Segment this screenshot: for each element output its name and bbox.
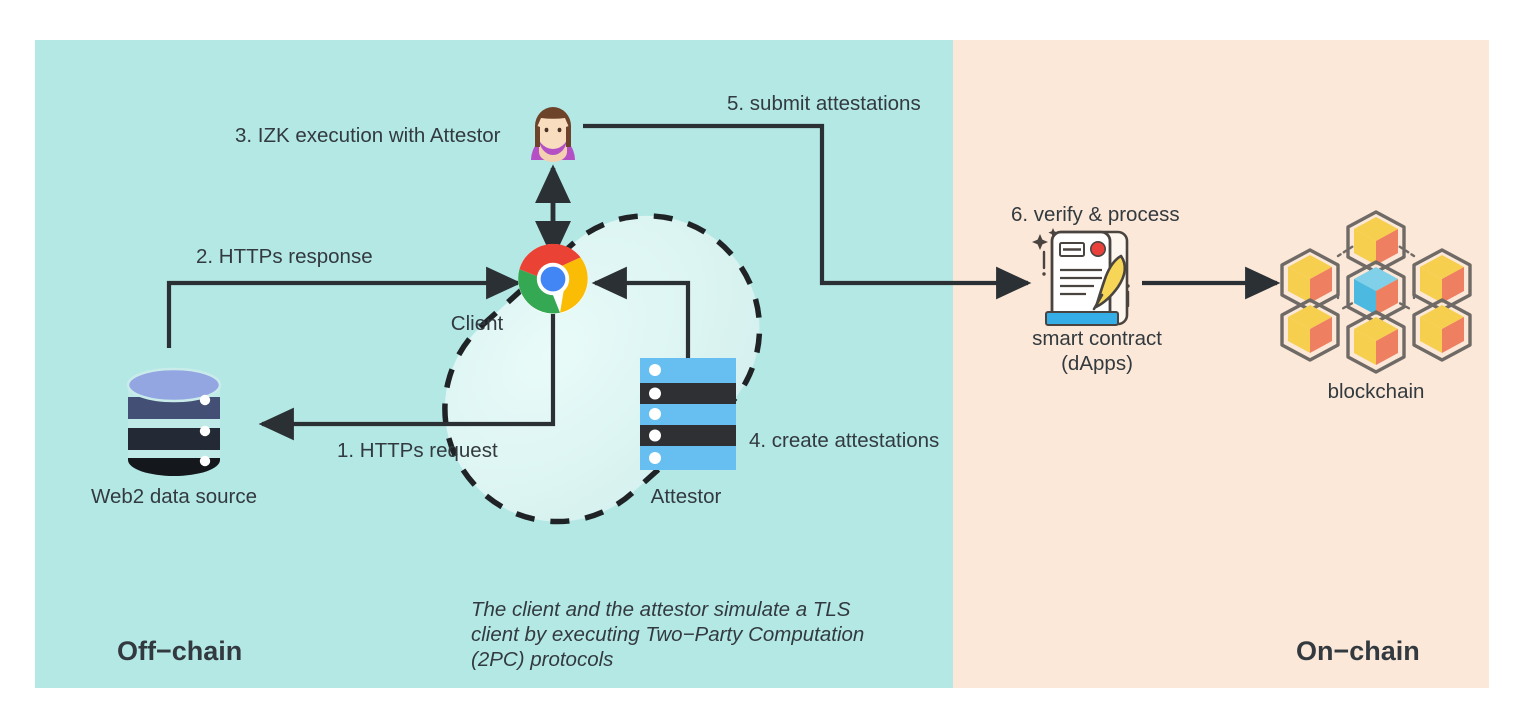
step-label-3: 3. IZK execution with Attestor: [235, 124, 501, 147]
caption-line-2: client by executing Two−Party Computatio…: [471, 623, 864, 646]
smart-contract-sublabel: (dApps): [1061, 352, 1133, 375]
server-rack-icon: [640, 358, 736, 470]
step-label-4: 4. create attestations: [749, 429, 939, 452]
step-label-5: 5. submit attestations: [727, 92, 921, 115]
flow-diagram: Web2 data source Client Attestor: [0, 0, 1527, 724]
step-label-1: 1. HTTPs request: [337, 439, 498, 462]
attestor-label: Attestor: [651, 485, 722, 508]
panel-on-chain: [953, 40, 1489, 688]
step-label-6: 6. verify & process: [1011, 203, 1180, 226]
chrome-browser-icon: [518, 244, 588, 314]
client-label: Client: [451, 312, 504, 335]
web2-data-source-label: Web2 data source: [91, 485, 257, 508]
caption-line-1: The client and the attestor simulate a T…: [471, 598, 851, 621]
caption-line-3: (2PC) protocols: [471, 648, 613, 671]
smart-contract-label: smart contract: [1032, 327, 1162, 350]
step-label-2: 2. HTTPs response: [196, 245, 373, 268]
on-chain-panel-label: On−chain: [1296, 636, 1420, 666]
blockchain-label: blockchain: [1328, 380, 1425, 403]
database-icon: [120, 360, 230, 484]
diagram-canvas: Web2 data source Client Attestor: [0, 0, 1527, 724]
off-chain-panel-label: Off−chain: [117, 636, 242, 666]
